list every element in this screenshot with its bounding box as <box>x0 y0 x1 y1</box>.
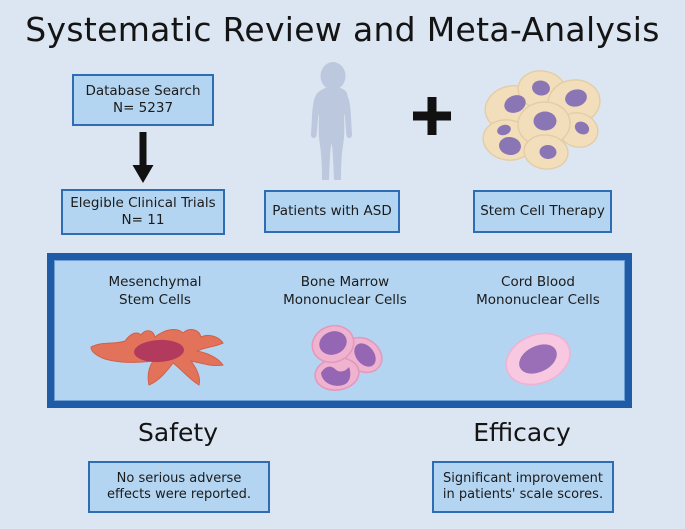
cell-column-bone-marrow: Bone Marrow Mononuclear Cells <box>250 274 440 399</box>
box-eligible-clinical-trials: Elegible Clinical Trials N= 11 <box>61 189 225 235</box>
patients-asd-label: Patients with ASD <box>272 203 391 220</box>
stem-cell-therapy-label: Stem Cell Therapy <box>480 203 605 220</box>
cell-column-mesenchymal: Mesenchymal Stem Cells <box>60 274 250 399</box>
box-database-search: Database Search N= 5237 <box>72 74 214 126</box>
cell-types-panel: Mesenchymal Stem Cells Bone Marrow Monon… <box>47 253 632 408</box>
box-efficacy-result: Significant improvement in patients' sca… <box>432 461 614 513</box>
eligible-trials-label: Elegible Clinical Trials <box>70 195 215 212</box>
box-stem-cell-therapy: Stem Cell Therapy <box>473 190 612 233</box>
eligible-trials-count: N= 11 <box>122 212 165 229</box>
box-safety-result: No serious adverse effects were reported… <box>88 461 270 513</box>
mesenchymal-stem-cell-icon <box>83 319 228 399</box>
database-search-count: N= 5237 <box>113 100 173 117</box>
down-arrow-icon <box>131 132 155 184</box>
bone-marrow-mononuclear-cells-icon <box>295 319 395 399</box>
bone-marrow-label: Bone Marrow Mononuclear Cells <box>250 274 440 309</box>
page-title: Systematic Review and Meta-Analysis <box>0 10 685 49</box>
efficacy-result-line2: in patients' scale scores. <box>443 487 603 503</box>
heading-safety: Safety <box>68 418 288 447</box>
infographic-canvas: Systematic Review and Meta-Analysis Data… <box>0 0 685 529</box>
person-silhouette-icon <box>303 62 363 180</box>
safety-result-line1: No serious adverse <box>117 471 242 487</box>
cell-column-cord-blood: Cord Blood Mononuclear Cells <box>443 274 633 399</box>
cord-blood-label: Cord Blood Mononuclear Cells <box>443 274 633 309</box>
database-search-label: Database Search <box>85 83 200 100</box>
box-patients-with-asd: Patients with ASD <box>264 190 400 233</box>
cord-blood-mononuclear-cell-icon <box>488 319 588 399</box>
mesenchymal-label: Mesenchymal Stem Cells <box>60 274 250 309</box>
plus-icon <box>411 95 453 137</box>
efficacy-result-line1: Significant improvement <box>443 471 603 487</box>
safety-result-line2: effects were reported. <box>107 487 251 503</box>
heading-efficacy: Efficacy <box>412 418 632 447</box>
stem-cell-cluster-icon <box>482 68 604 173</box>
